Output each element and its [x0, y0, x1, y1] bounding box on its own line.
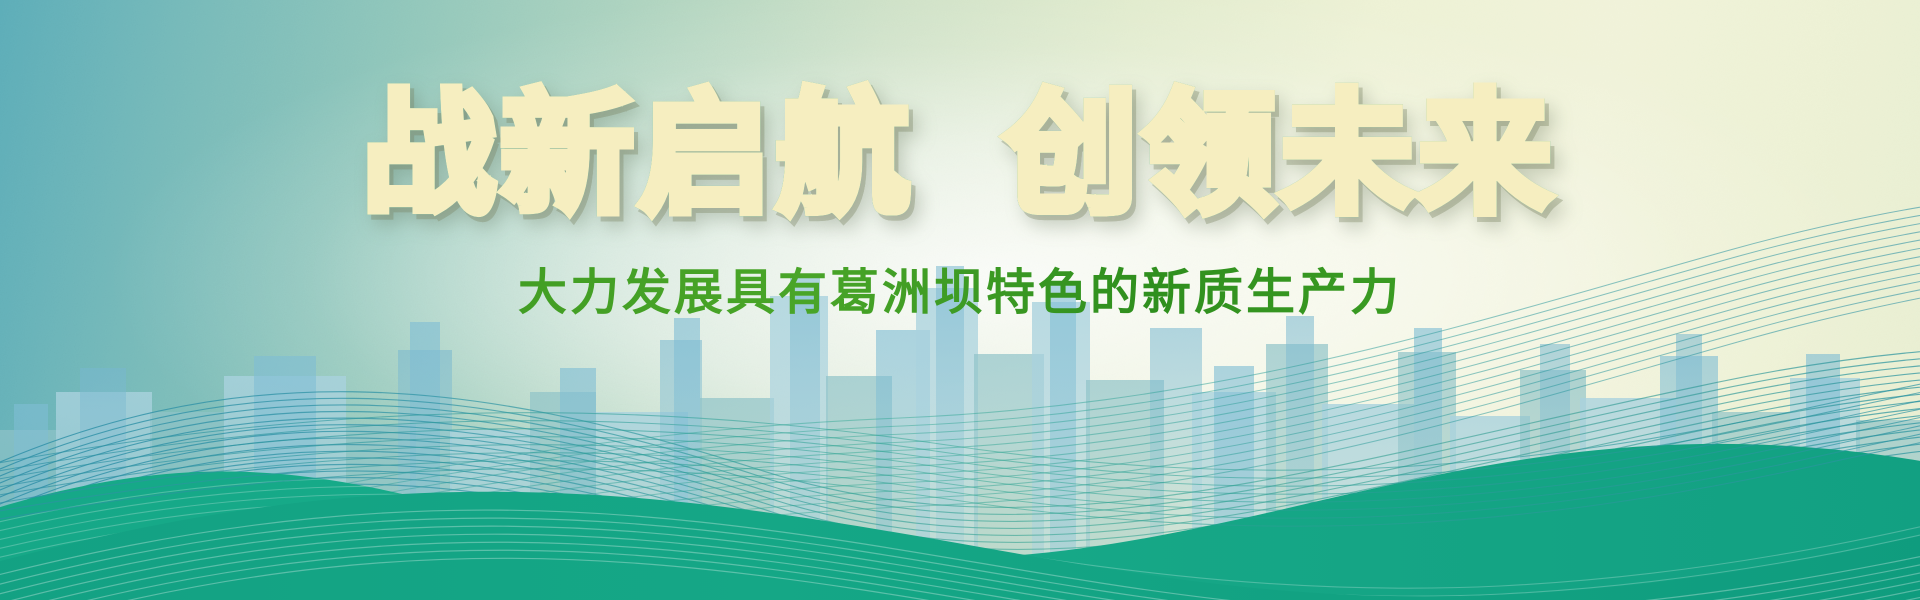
main-title-part1: 战新启航: [363, 78, 915, 232]
banner-text-block: 战新启航 创领未来 大力发展具有葛洲坝特色的新质生产力: [0, 0, 1920, 324]
promotional-banner: 战新启航 创领未来 大力发展具有葛洲坝特色的新质生产力: [0, 0, 1920, 600]
main-title: 战新启航 创领未来: [0, 0, 1920, 227]
main-title-spacer: [915, 78, 1005, 232]
main-title-part2: 创领未来: [1005, 78, 1557, 232]
subtitle: 大力发展具有葛洲坝特色的新质生产力: [0, 227, 1920, 324]
